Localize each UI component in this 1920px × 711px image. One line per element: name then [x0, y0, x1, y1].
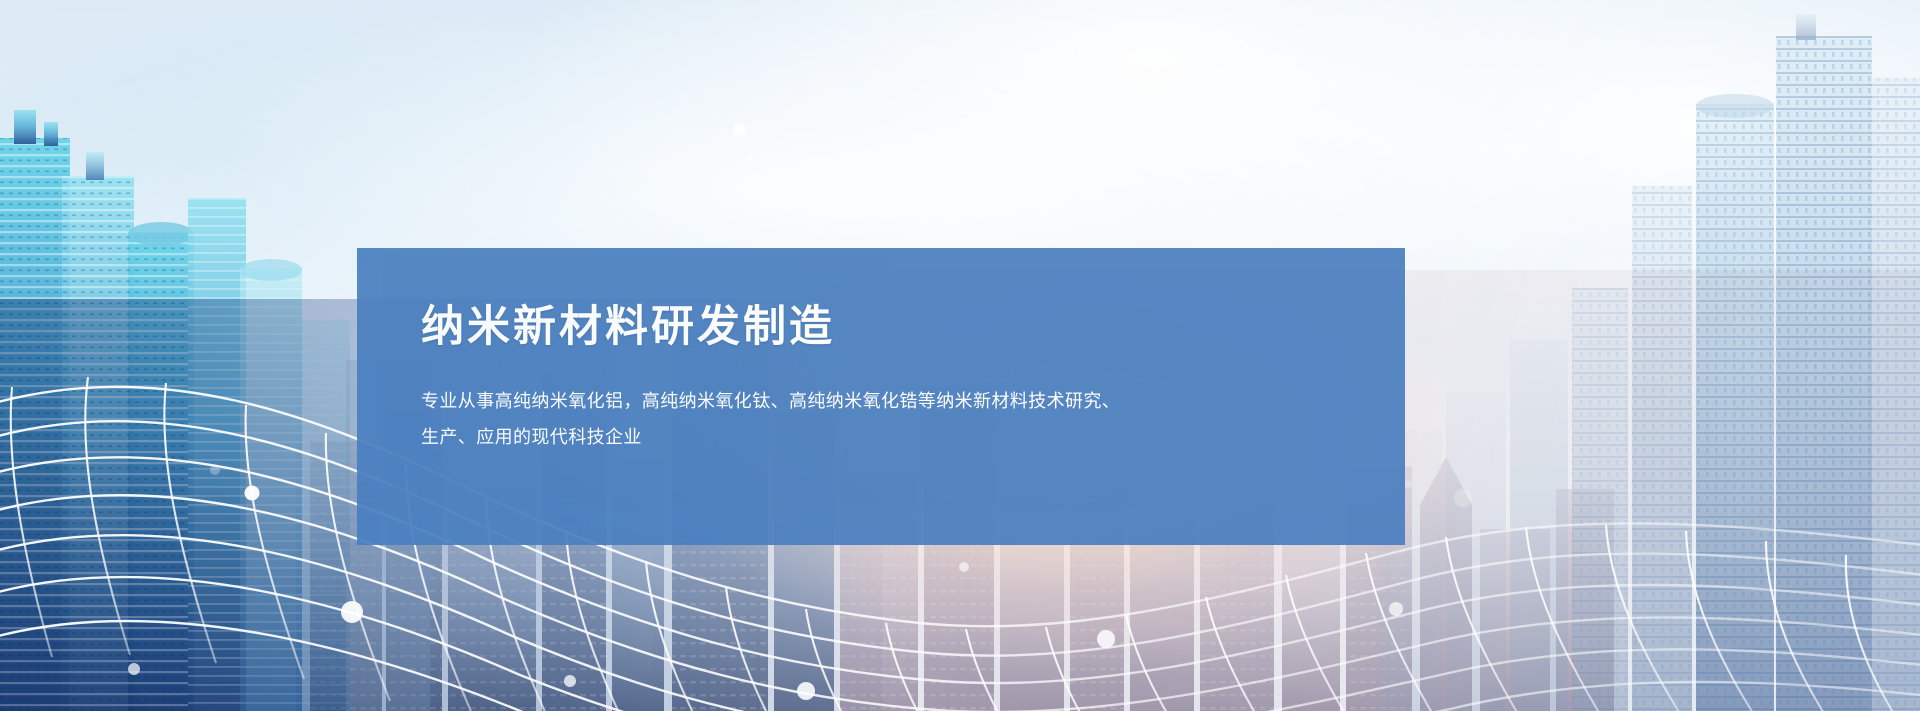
bokeh-dot: [746, 155, 753, 162]
page-title: 纳米新材料研发制造: [421, 302, 1405, 353]
hero-text-panel-inner: 纳米新材料研发制造 专业从事高纯纳米氧化铝，高纯纳米氧化钛、高纯纳米氧化锆等纳米…: [357, 248, 1405, 545]
bokeh-dot: [210, 465, 220, 475]
bokeh-dot: [985, 90, 991, 96]
bokeh-dot: [1404, 480, 1412, 488]
bokeh-dot: [733, 123, 746, 136]
hero-subtitle: 专业从事高纯纳米氧化铝，高纯纳米氧化钛、高纯纳米氧化锆等纳米新材料技术研究、 生…: [421, 383, 1221, 455]
hero-subtitle-line-1: 专业从事高纯纳米氧化铝，高纯纳米氧化钛、高纯纳米氧化锆等纳米新材料技术研究、: [421, 383, 1221, 419]
hero-banner: 纳米新材料研发制造 专业从事高纯纳米氧化铝，高纯纳米氧化钛、高纯纳米氧化锆等纳米…: [0, 0, 1920, 711]
bokeh-dot: [1454, 489, 1472, 507]
bokeh-dot: [1236, 38, 1244, 46]
hero-subtitle-line-2: 生产、应用的现代科技企业: [421, 419, 1221, 455]
hero-text-panel: 纳米新材料研发制造 专业从事高纯纳米氧化铝，高纯纳米氧化钛、高纯纳米氧化锆等纳米…: [357, 248, 1405, 545]
